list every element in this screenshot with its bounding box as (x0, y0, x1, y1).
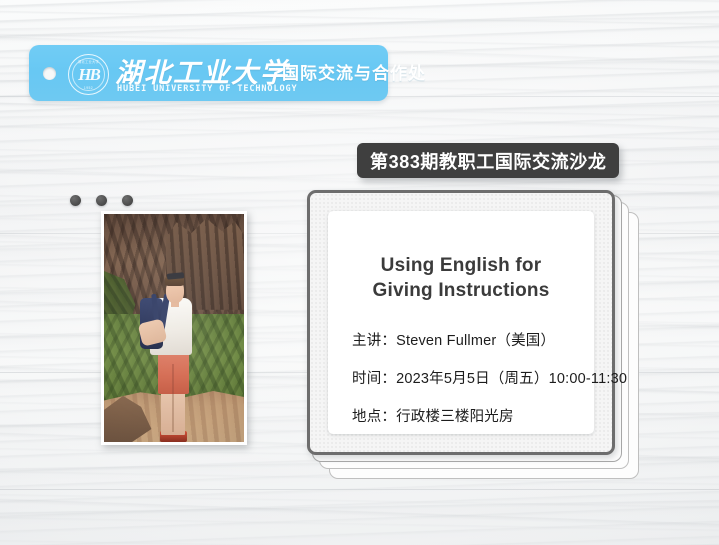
detail-speaker: 主讲：Steven Fullmer（美国） (352, 329, 576, 350)
speaker-photo (104, 214, 244, 442)
decorative-dots (70, 195, 133, 206)
event-title-banner: 第383期教职工国际交流沙龙 (357, 143, 619, 178)
session-details: 主讲：Steven Fullmer（美国） 时间：2023年5月5日（周五）10… (352, 329, 576, 426)
photo-shading-overlay (104, 214, 244, 442)
dot-icon (122, 195, 133, 206)
info-card-stack: Using English for Giving Instructions 主讲… (307, 190, 615, 455)
info-card-frame: Using English for Giving Instructions 主讲… (307, 190, 615, 455)
university-header-tag: 湖北工业大学 HB 1952 湖北工业大学 HUBEI UNIVERSITY O… (29, 45, 388, 101)
office-name-cn: 国际交流与合作处 (282, 59, 426, 84)
seal-year: 1952 (69, 86, 108, 90)
poster-canvas: 湖北工业大学 HB 1952 湖北工业大学 HUBEI UNIVERSITY O… (0, 0, 719, 545)
dot-icon (96, 195, 107, 206)
detail-time: 时间：2023年5月5日（周五）10:00-11:30 (352, 367, 576, 388)
session-title: Using English for Giving Instructions (346, 253, 576, 303)
seal-arc-text: 湖北工业大学 (69, 59, 108, 64)
event-title-text: 第383期教职工国际交流沙龙 (370, 148, 606, 174)
university-name-en: HUBEI UNIVERSITY OF TECHNOLOGY (117, 84, 298, 94)
university-seal-icon: 湖北工业大学 HB 1952 (68, 54, 109, 95)
speaker-photo-frame (101, 211, 247, 445)
seal-monogram: HB (78, 66, 99, 83)
info-card: Using English for Giving Instructions 主讲… (328, 211, 594, 434)
dot-icon (70, 195, 81, 206)
session-title-line1: Using English for (381, 255, 542, 276)
punch-hole-icon (43, 67, 56, 80)
detail-location: 地点：行政楼三楼阳光房 (352, 405, 576, 426)
session-title-line2: Giving Instructions (346, 278, 576, 303)
